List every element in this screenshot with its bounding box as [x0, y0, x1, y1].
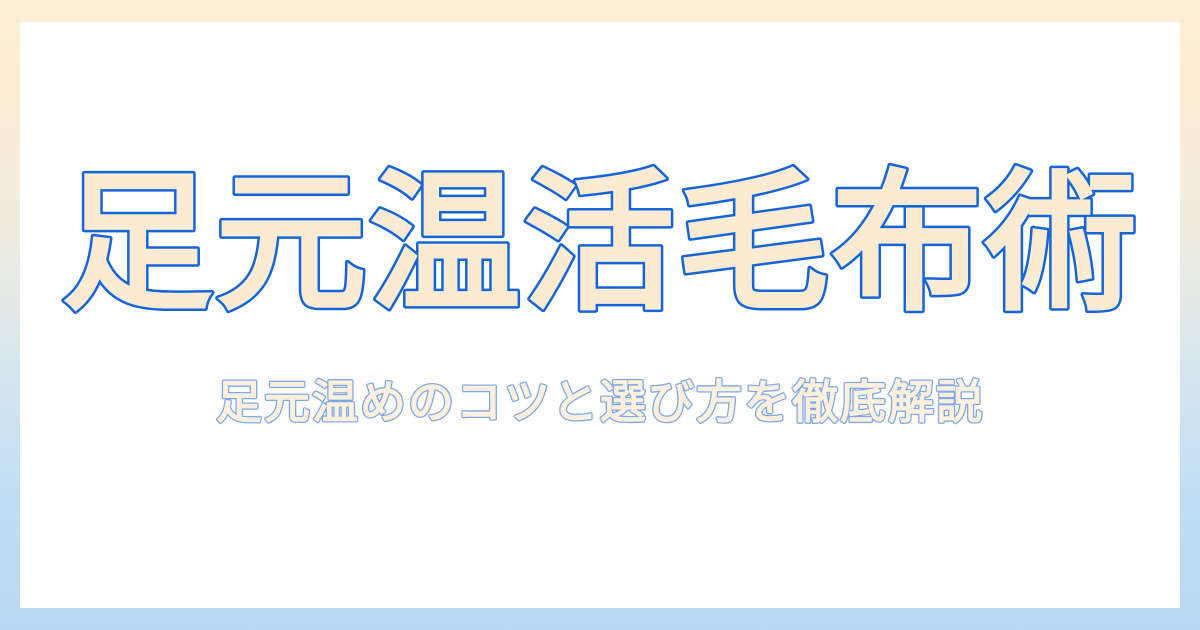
page-subtitle: 足元温めのコツと選び方を徹底解説 — [20, 368, 1180, 440]
white-content-card: 足元温活毛布術 足元温めのコツと選び方を徹底解説 — [20, 22, 1180, 608]
og-image-canvas: 足元温活毛布術 足元温めのコツと選び方を徹底解説 — [0, 0, 1200, 630]
page-title: 足元温活毛布術 — [20, 146, 1180, 346]
title-text: 足元温活毛布術 — [61, 155, 1139, 332]
subtitle-outlined-text: 足元温めのコツと選び方を徹底解説 — [20, 368, 1180, 440]
text-stack: 足元温活毛布術 足元温めのコツと選び方を徹底解説 — [20, 22, 1180, 608]
title-outlined-text: 足元温活毛布術 — [20, 146, 1180, 346]
subtitle-text: 足元温めのコツと選び方を徹底解説 — [216, 375, 984, 429]
